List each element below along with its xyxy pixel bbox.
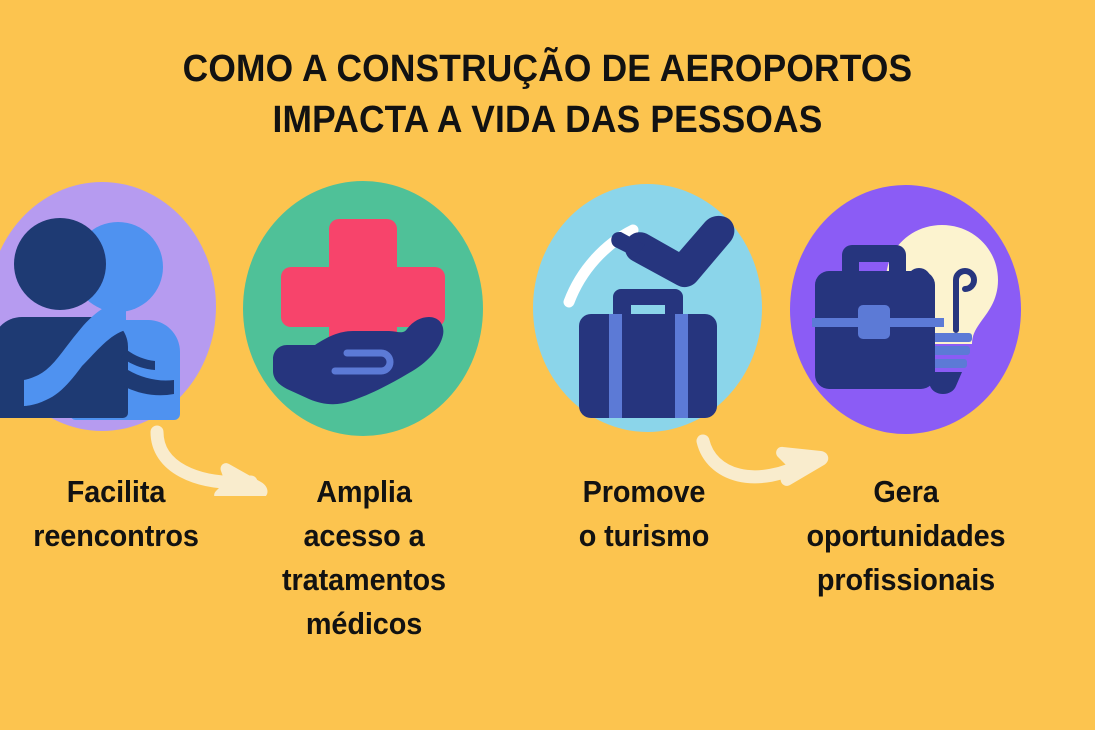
step-4-label-line-2: oportunidades: [787, 514, 1025, 558]
step-3-label-line-2: o turismo: [536, 514, 752, 558]
step-4-label: Gera oportunidades profissionais: [787, 470, 1025, 602]
step-4-icon-circle: [790, 185, 1021, 434]
step-2-label-line-3: tratamentos: [256, 558, 472, 602]
step-2-label-line-4: médicos: [256, 602, 472, 646]
step-2-label-line-1: Amplia: [256, 470, 472, 514]
step-1-label: Facilita reencontros: [8, 470, 224, 558]
step-1-icon-circle: [0, 182, 216, 431]
page-title-line-1: COMO A CONSTRUÇÃO DE AEROPORTOS: [38, 44, 1056, 95]
step-3-icon-circle: [533, 184, 762, 432]
step-2-icon-circle: [243, 181, 483, 436]
step-4-label-line-3: profissionais: [787, 558, 1025, 602]
briefcase-lightbulb-icon: [790, 185, 1021, 434]
people-hugging-icon: [0, 182, 216, 431]
step-1-label-line-2: reencontros: [8, 514, 224, 558]
step-3-label: Promove o turismo: [536, 470, 752, 558]
step-2-label-line-2: acesso a: [256, 514, 472, 558]
step-3-label-line-1: Promove: [536, 470, 752, 514]
step-1-label-line-1: Facilita: [8, 470, 224, 514]
page-title-line-2: IMPACTA A VIDA DAS PESSOAS: [38, 95, 1056, 146]
step-2-label: Amplia acesso a tratamentos médicos: [256, 470, 472, 646]
page-title: COMO A CONSTRUÇÃO DE AEROPORTOS IMPACTA …: [38, 44, 1056, 146]
step-4-label-line-1: Gera: [787, 470, 1025, 514]
infographic-canvas: COMO A CONSTRUÇÃO DE AEROPORTOS IMPACTA …: [0, 0, 1095, 730]
medical-cross-hand-icon: [243, 181, 483, 436]
suitcase-airplane-icon: [533, 184, 762, 432]
